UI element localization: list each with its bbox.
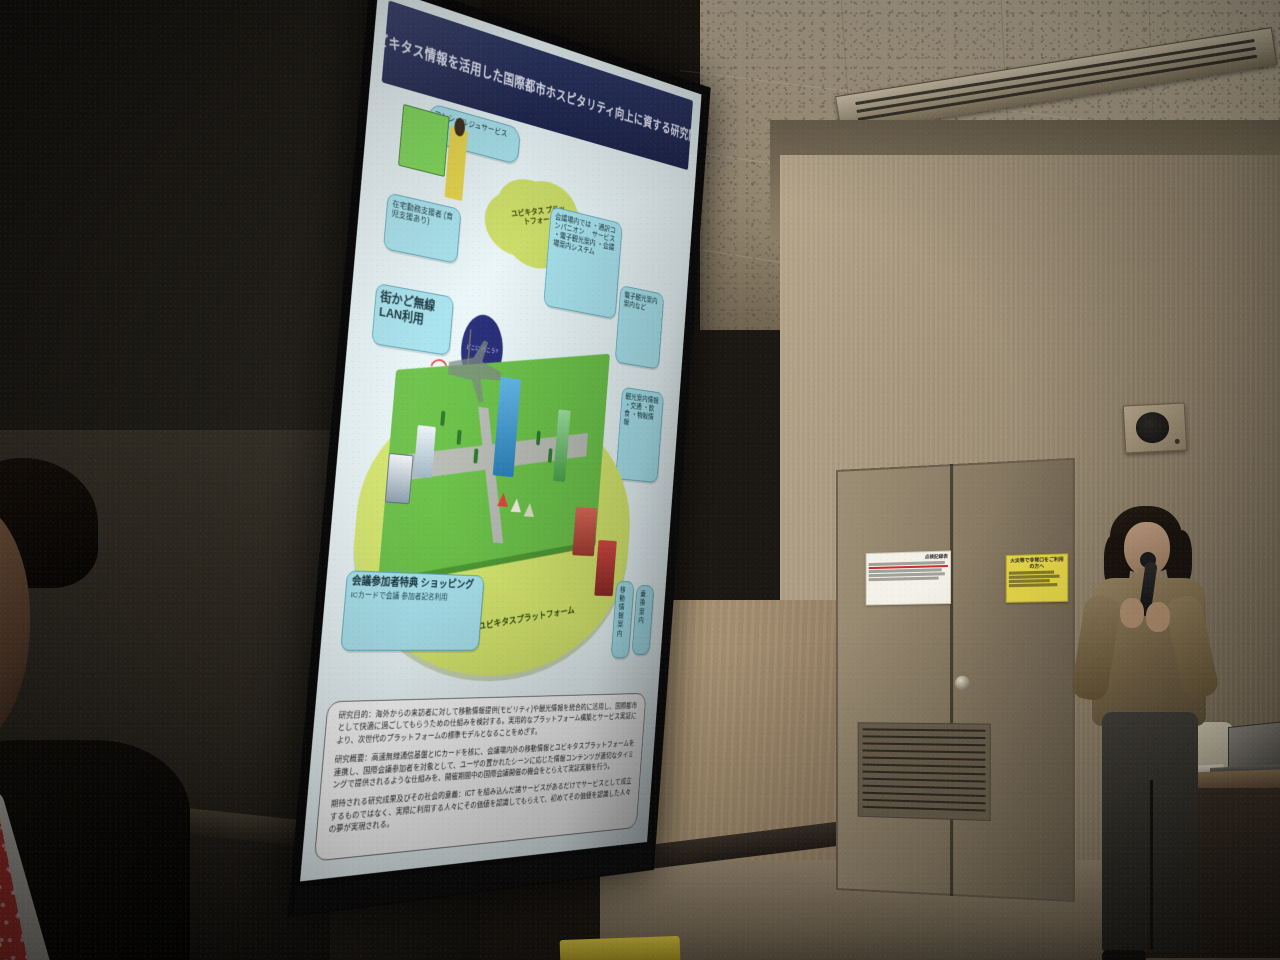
landmark-cone-icon xyxy=(497,493,509,508)
presenter-leg-seam xyxy=(1150,780,1153,950)
presentation-slide: ユビキタス情報を活用した国際都市ホスピタリティ向上に資する研究開発 コンシェルジ… xyxy=(300,0,701,881)
building-icon xyxy=(572,507,597,556)
callout-attendee-benefit: 会議参加者特典 ショッピング ICカードで会議 参加者記名利用 xyxy=(340,570,484,651)
speaker-led-icon xyxy=(1175,438,1180,443)
presenter xyxy=(1058,500,1243,960)
wall-speaker xyxy=(1123,402,1187,453)
callout-attendee-benefit-sub: ICカードで会議 参加者記名利用 xyxy=(350,591,478,604)
notice-title: 火災等で非常口をご利用の方へ xyxy=(1009,556,1065,570)
presenter-right-hand xyxy=(1146,602,1170,632)
speaker-cone-icon xyxy=(1135,412,1170,444)
projection-screen: ユビキタス情報を活用した国際都市ホスピタリティ向上に資する研究開発 コンシェルジ… xyxy=(330,0,850,960)
house-icon xyxy=(398,104,449,177)
callout-home-support: 在宅勤務支援者 (育児支援あり) xyxy=(383,192,462,263)
screen-frame: ユビキタス情報を活用した国際都市ホスピタリティ向上に資する研究開発 コンシェルジ… xyxy=(288,0,711,918)
presenter-shoe xyxy=(1102,950,1146,960)
bus-icon xyxy=(385,453,414,505)
callout-emoney: 電子観光案内 案内など xyxy=(615,285,664,369)
landmark-cone-icon xyxy=(511,498,523,512)
door-handle[interactable] xyxy=(955,676,970,690)
callout-guide-info: 観光案内情報 ・交通 ・飲食 ・物販情報 xyxy=(615,386,664,483)
callout-attendee-benefit-main: 会議参加者特典 ショッピング xyxy=(351,575,474,591)
slide-description-box: 研究目的：海外からの来訪者に対して移動情報提供(モビリティ)や観光情報を統合的に… xyxy=(314,693,646,862)
landmark-cone-icon xyxy=(524,503,535,517)
callout-transport-guide-2: 乗換 案内 xyxy=(632,585,654,654)
double-door[interactable]: 点検記録表 火災等で非常口をご利用の方へ xyxy=(836,458,1075,902)
conference-room-photo: 点検記録表 火災等で非常口をご利用の方へ xyxy=(0,0,1280,960)
callout-wifi: 街かど無線 LAN利用 xyxy=(371,283,454,356)
door-vent-grille xyxy=(858,722,991,821)
door-notice-white: 点検記録表 xyxy=(866,550,951,605)
presenter-left-hand xyxy=(1120,598,1144,628)
foreground-attendee xyxy=(0,440,260,960)
door-center-seam xyxy=(950,464,953,896)
screen-surface: ユビキタス情報を活用した国際都市ホスピタリティ向上に資する研究開発 コンシェルジ… xyxy=(300,0,701,881)
callout-venue-services: 会議場内では ・通訳コンパニオン サービス ・電子観光案内 ・会議場案内システム xyxy=(544,206,623,319)
